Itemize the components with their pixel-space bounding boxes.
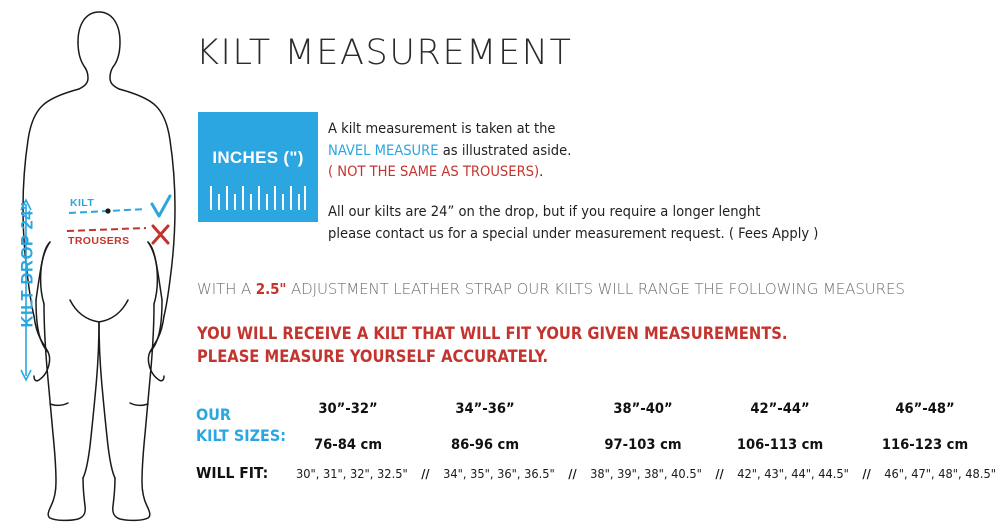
- strap-suffix: ADJUSTMENT LEATHER STRAP OUR KILTS WILL …: [286, 280, 904, 298]
- size-cm: 116-123 cm: [850, 436, 1000, 453]
- size-cm: 76-84 cm: [273, 436, 423, 453]
- inches-unit-box: INCHES ("): [198, 112, 318, 222]
- ruler-ticks-icon: [208, 184, 308, 210]
- will-fit-separator: //: [861, 466, 871, 481]
- navel-measure-highlight: NAVEL MEASURE: [328, 142, 439, 159]
- figure-panel: KILT DROP 24" KILT TROUSERS: [0, 0, 195, 531]
- size-inches: 38”-40”: [568, 400, 718, 417]
- kilt-drop-label: KILT DROP 24": [19, 195, 38, 335]
- trousers-line-label: TROUSERS: [68, 235, 130, 247]
- will-fit-group: 46", 47", 48", 48.5": [884, 466, 996, 481]
- size-cm: 97-103 cm: [568, 436, 718, 453]
- will-fit-values: 30", 31", 32", 32.5" // 34", 35", 36", 3…: [296, 466, 996, 481]
- will-fit-group: 38", 39", 38", 40.5": [590, 466, 702, 481]
- kilt-drop-paragraph: All our kilts are 24” on the drop, but i…: [328, 201, 818, 244]
- trousers-measure-line: [67, 228, 146, 231]
- strap-prefix: WITH A: [197, 280, 256, 298]
- size-column: 46”-48” 116-123 cm: [850, 400, 1000, 453]
- will-fit-group: 34", 35", 36", 36.5": [443, 466, 555, 481]
- will-fit-separator: //: [420, 466, 430, 481]
- cross-mark-icon: [153, 226, 168, 243]
- drop-line-1: All our kilts are 24” on the drop, but i…: [328, 201, 818, 223]
- navel-line-2: NAVEL MEASURE as illustrated aside.: [328, 140, 571, 162]
- will-fit-separator: //: [714, 466, 724, 481]
- will-fit-row: WILL FIT: 30", 31", 32", 32.5" // 34", 3…: [196, 464, 996, 488]
- size-inches: 42”-44”: [705, 400, 855, 417]
- will-fit-separator: //: [567, 466, 577, 481]
- accuracy-warning: YOU WILL RECEIVE A KILT THAT WILL FIT YO…: [197, 323, 788, 368]
- size-column: 30”-32” 76-84 cm: [273, 400, 423, 453]
- navel-line-3-tail: .: [539, 163, 543, 180]
- not-trousers-warning: ( NOT THE SAME AS TROUSERS): [328, 163, 539, 180]
- check-mark-icon: [152, 196, 170, 216]
- navel-line-3: ( NOT THE SAME AS TROUSERS).: [328, 161, 571, 183]
- strap-range-line: WITH A 2.5" ADJUSTMENT LEATHER STRAP OUR…: [197, 280, 905, 298]
- size-inches: 34”-36”: [410, 400, 560, 417]
- size-cm: 86-96 cm: [410, 436, 560, 453]
- size-inches: 30”-32”: [273, 400, 423, 417]
- inches-label: INCHES ("): [198, 148, 318, 168]
- kilt-line-label: KILT: [70, 197, 94, 209]
- size-column: 38”-40” 97-103 cm: [568, 400, 718, 453]
- navel-line-2-rest: as illustrated aside.: [439, 142, 572, 159]
- will-fit-label: WILL FIT:: [196, 464, 268, 482]
- size-column: 42”-44” 106-113 cm: [705, 400, 855, 453]
- will-fit-group: 42", 43", 44", 44.5": [737, 466, 849, 481]
- size-column: 34”-36” 86-96 cm: [410, 400, 560, 453]
- navel-point-dot: [105, 208, 110, 213]
- warning-line-1: YOU WILL RECEIVE A KILT THAT WILL FIT YO…: [197, 323, 788, 346]
- navel-measure-paragraph: A kilt measurement is taken at the NAVEL…: [328, 118, 571, 183]
- kilt-measure-line: [69, 208, 146, 213]
- kilt-measurement-infographic: KILT DROP 24" KILT TROUSERS KILT MEASURE…: [0, 0, 1000, 531]
- will-fit-group: 30", 31", 32", 32.5": [296, 466, 408, 481]
- warning-line-2: PLEASE MEASURE YOURSELF ACCURATELY.: [197, 346, 788, 369]
- page-title: KILT MEASUREMENT: [196, 33, 572, 73]
- drop-line-2: please contact us for a special under me…: [328, 223, 818, 245]
- size-inches: 46”-48”: [850, 400, 1000, 417]
- size-cm: 106-113 cm: [705, 436, 855, 453]
- navel-line-1: A kilt measurement is taken at the: [328, 118, 571, 140]
- strap-measure-value: 2.5": [256, 280, 287, 298]
